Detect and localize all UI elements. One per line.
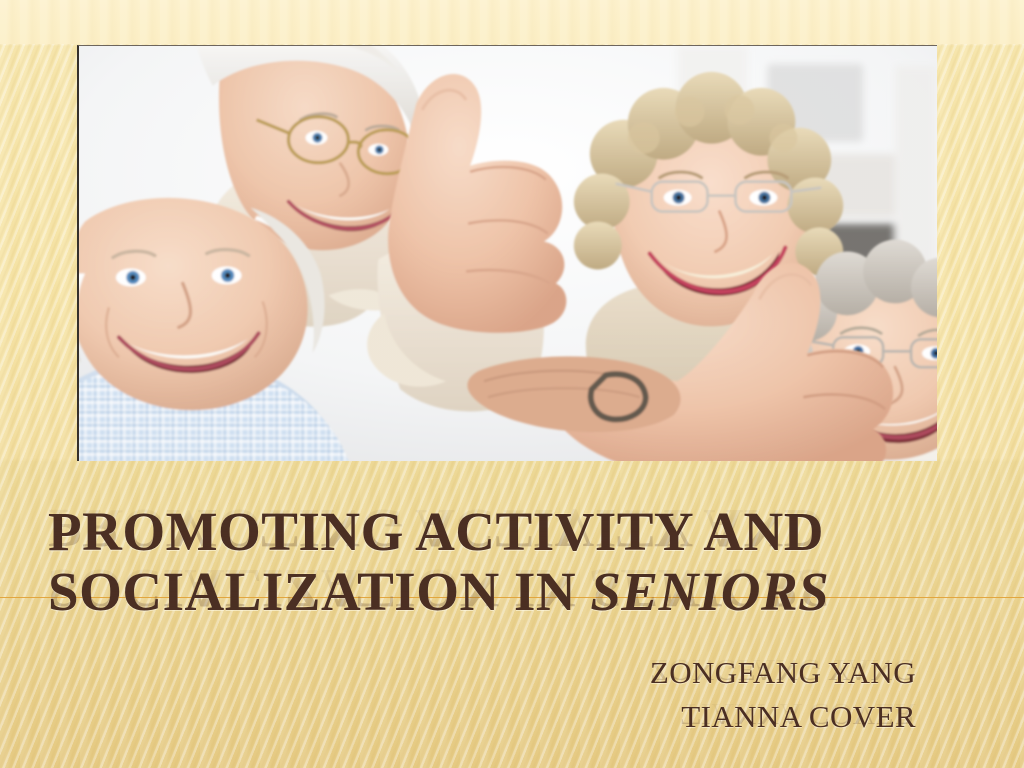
- title-line-1: PROMOTING ACTIVITY AND PROMOTING ACTIVIT…: [48, 503, 928, 563]
- title-photo: [77, 45, 937, 461]
- title-slide: PROMOTING ACTIVITY AND PROMOTING ACTIVIT…: [0, 0, 1024, 768]
- page-title-line-2: SOCIALIZATION IN SENIORS: [48, 563, 928, 621]
- title-block: PROMOTING ACTIVITY AND PROMOTING ACTIVIT…: [48, 503, 928, 623]
- title-line-2: SOCIALIZATION IN SENIORS SOCIALIZATION I…: [48, 563, 928, 623]
- page-title-line-1: PROMOTING ACTIVITY AND: [48, 503, 928, 561]
- title-line-2-plain: SOCIALIZATION IN: [48, 561, 590, 622]
- presenter-byline: ZONGFANG YANG ZONGFANG YANG TIANNA COVER…: [396, 655, 916, 743]
- presenter-name-2: TIANNA COVER: [396, 699, 916, 735]
- byline-line-1: ZONGFANG YANG ZONGFANG YANG: [396, 655, 916, 699]
- byline-line-2: TIANNA COVER TIANNA COVER: [396, 699, 916, 743]
- title-emphasis-seniors: SENIORS: [590, 561, 829, 622]
- presenter-name-1: ZONGFANG YANG: [396, 655, 916, 691]
